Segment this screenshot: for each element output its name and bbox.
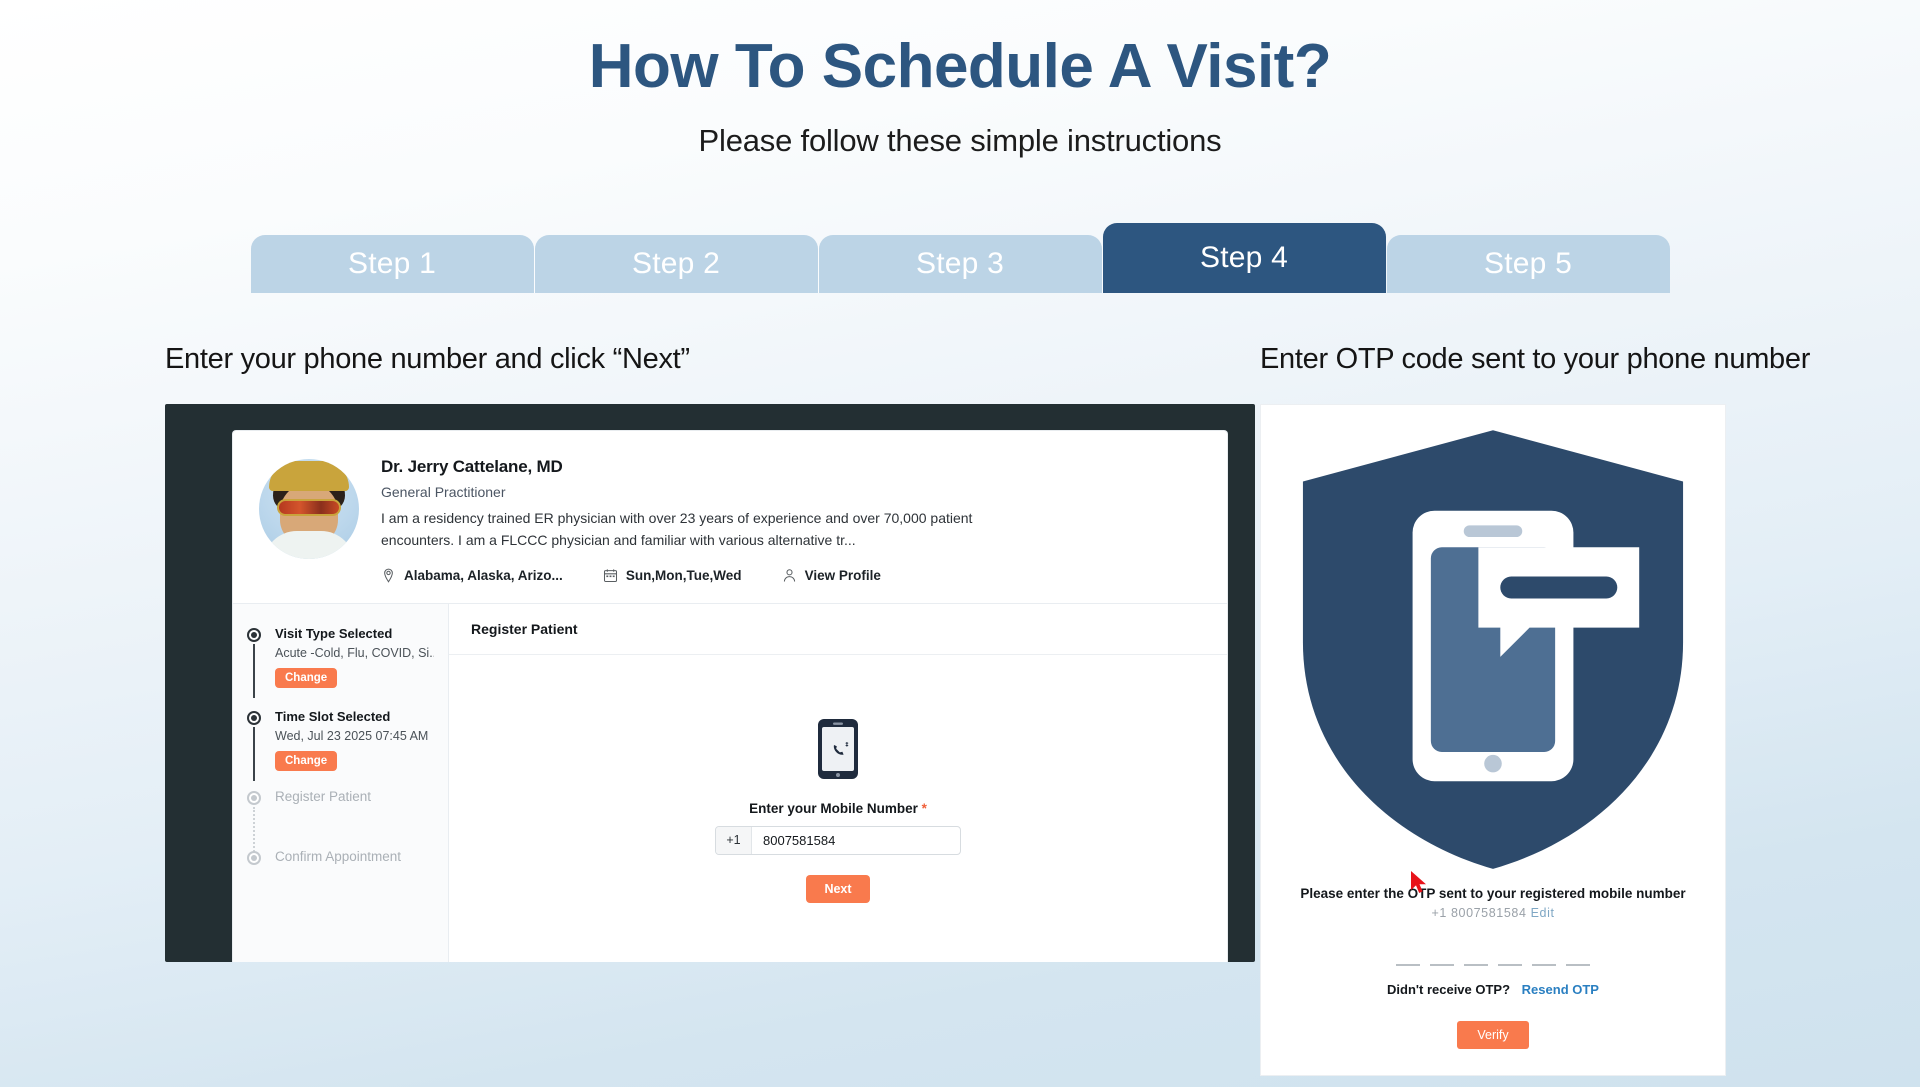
view-profile-label: View Profile [805, 568, 881, 583]
location-pin-icon [381, 568, 396, 583]
timeline-dot-pending-icon [247, 791, 261, 805]
booking-timeline: Visit Type Selected Acute -Cold, Flu, CO… [233, 604, 449, 963]
timeline-time-slot-value: Wed, Jul 23 2025 07:45 AM [275, 729, 434, 743]
otp-digit-inputs[interactable] [1281, 944, 1705, 966]
timeline-dot-done-icon [247, 628, 261, 642]
otp-digit-1[interactable] [1396, 944, 1420, 966]
mobile-phone-icon [816, 717, 860, 781]
otp-instruction-text: Please enter the OTP sent to your regist… [1281, 886, 1705, 901]
timeline-item-register-patient: Register Patient [247, 789, 434, 804]
doctor-specialty: General Practitioner [381, 484, 1201, 500]
timeline-confirm-appointment-title: Confirm Appointment [275, 849, 434, 864]
next-button[interactable]: Next [806, 875, 869, 903]
doctor-locations-label: Alabama, Alaska, Arizo... [404, 568, 563, 583]
timeline-item-time-slot[interactable]: Time Slot Selected Wed, Jul 23 2025 07:4… [247, 709, 434, 771]
left-column-heading: Enter your phone number and click “Next” [165, 339, 1130, 380]
register-panel-title: Register Patient [449, 604, 1227, 655]
otp-digit-5[interactable] [1532, 944, 1556, 966]
step-tabs: Step 1 Step 2 Step 3 Step 4 Step 5 [0, 221, 1920, 293]
user-profile-icon [782, 568, 797, 583]
timeline-visit-type-title: Visit Type Selected [275, 626, 434, 641]
change-time-slot-button[interactable]: Change [275, 751, 337, 771]
mobile-number-label: Enter your Mobile Number * [749, 801, 927, 816]
otp-phone-row: +1 8007581584 Edit [1281, 906, 1705, 920]
doctor-meta-row: Alabama, Alaska, Arizo... [381, 568, 1201, 583]
otp-resend-question: Didn't receive OTP? [1387, 982, 1510, 997]
timeline-register-patient-title: Register Patient [275, 789, 434, 804]
doctor-avatar [259, 459, 359, 559]
country-code-label: +1 [716, 827, 752, 854]
right-column: Enter OTP code sent to your phone number… [1130, 339, 1830, 1076]
booking-lower-area: Visit Type Selected Acute -Cold, Flu, CO… [233, 604, 1227, 963]
content-columns: Enter your phone number and click “Next”… [0, 339, 1920, 1076]
change-visit-type-button[interactable]: Change [275, 668, 337, 688]
timeline-item-visit-type[interactable]: Visit Type Selected Acute -Cold, Flu, CO… [247, 626, 434, 688]
otp-digit-6[interactable] [1566, 944, 1590, 966]
verify-button[interactable]: Verify [1457, 1021, 1528, 1049]
timeline-dot-pending-icon [247, 851, 261, 865]
tab-step-1[interactable]: Step 1 [251, 235, 534, 293]
doctor-availability-label: Sun,Mon,Tue,Wed [626, 568, 742, 583]
page-header: How To Schedule A Visit? Please follow t… [0, 0, 1920, 159]
mobile-number-input-group[interactable]: +1 8007581584 [715, 826, 961, 855]
required-marker: * [922, 801, 927, 816]
register-panel-body: Enter your Mobile Number * +1 8007581584… [449, 655, 1227, 963]
otp-digit-2[interactable] [1430, 944, 1454, 966]
right-column-heading: Enter OTP code sent to your phone number [1260, 339, 1830, 380]
timeline-time-slot-title: Time Slot Selected [275, 709, 434, 724]
view-profile-link[interactable]: View Profile [782, 568, 881, 583]
tab-step-2[interactable]: Step 2 [535, 235, 818, 293]
app-screenshot-frame: Dr. Jerry Cattelane, MD General Practiti… [165, 404, 1255, 962]
timeline-dot-done-icon [247, 711, 261, 725]
page-subtitle: Please follow these simple instructions [0, 123, 1920, 159]
tab-step-3[interactable]: Step 3 [819, 235, 1102, 293]
calendar-icon [603, 568, 618, 583]
doctor-info: Dr. Jerry Cattelane, MD General Practiti… [381, 455, 1201, 582]
doctor-availability[interactable]: Sun,Mon,Tue,Wed [603, 568, 742, 583]
otp-digit-4[interactable] [1498, 944, 1522, 966]
doctor-name: Dr. Jerry Cattelane, MD [381, 457, 1201, 477]
otp-phone-number: +1 8007581584 [1431, 906, 1526, 920]
resend-otp-link[interactable]: Resend OTP [1522, 982, 1599, 997]
doctor-bio: I am a residency trained ER physician wi… [381, 508, 1021, 551]
timeline-connector [253, 727, 255, 781]
timeline-item-confirm-appointment: Confirm Appointment [247, 849, 434, 864]
tab-step-4[interactable]: Step 4 [1103, 223, 1386, 293]
doctor-card: Dr. Jerry Cattelane, MD General Practiti… [233, 431, 1227, 603]
tab-step-5[interactable]: Step 5 [1387, 235, 1670, 293]
otp-digit-3[interactable] [1464, 944, 1488, 966]
mobile-number-input[interactable]: 8007581584 [752, 827, 960, 854]
left-column: Enter your phone number and click “Next”… [0, 339, 1130, 962]
doctor-locations[interactable]: Alabama, Alaska, Arizo... [381, 568, 563, 583]
otp-resend-row: Didn't receive OTP? Resend OTP [1281, 982, 1705, 997]
otp-shield-icon [1281, 423, 1705, 876]
page-title: How To Schedule A Visit? [0, 34, 1920, 101]
timeline-connector [253, 644, 255, 698]
app-screenshot-content: Dr. Jerry Cattelane, MD General Practiti… [233, 431, 1227, 962]
otp-verification-card: Please enter the OTP sent to your regist… [1260, 404, 1726, 1076]
register-patient-panel: Register Patient [449, 604, 1227, 963]
edit-phone-link[interactable]: Edit [1531, 906, 1555, 920]
timeline-visit-type-value: Acute -Cold, Flu, COVID, Si... [275, 646, 434, 660]
